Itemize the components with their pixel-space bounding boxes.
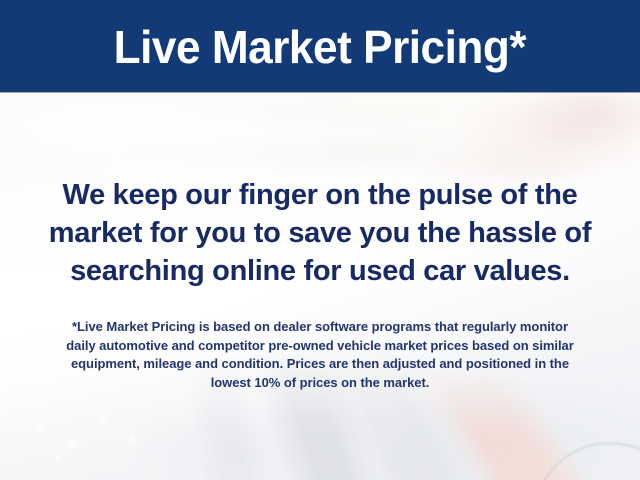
headline-line-3: searching online for used car values.: [20, 252, 620, 290]
disclaimer-line-3: equipment, mileage and condition. Prices…: [22, 355, 618, 374]
headline-line-1: We keep our finger on the pulse of the: [20, 176, 620, 214]
content-area: We keep our finger on the pulse of the m…: [0, 0, 640, 480]
live-market-pricing-banner: Live Market Pricing* We keep our finger …: [0, 0, 640, 480]
disclaimer-line-4: lowest 10% of prices on the market.: [22, 374, 618, 393]
disclaimer-line-2: daily automotive and competitor pre-owne…: [22, 337, 618, 356]
headline-block: We keep our finger on the pulse of the m…: [20, 176, 620, 290]
headline-line-2: market for you to save you the hassle of: [20, 214, 620, 252]
disclaimer-line-1: *Live Market Pricing is based on dealer …: [22, 318, 618, 337]
disclaimer-block: *Live Market Pricing is based on dealer …: [22, 318, 618, 392]
